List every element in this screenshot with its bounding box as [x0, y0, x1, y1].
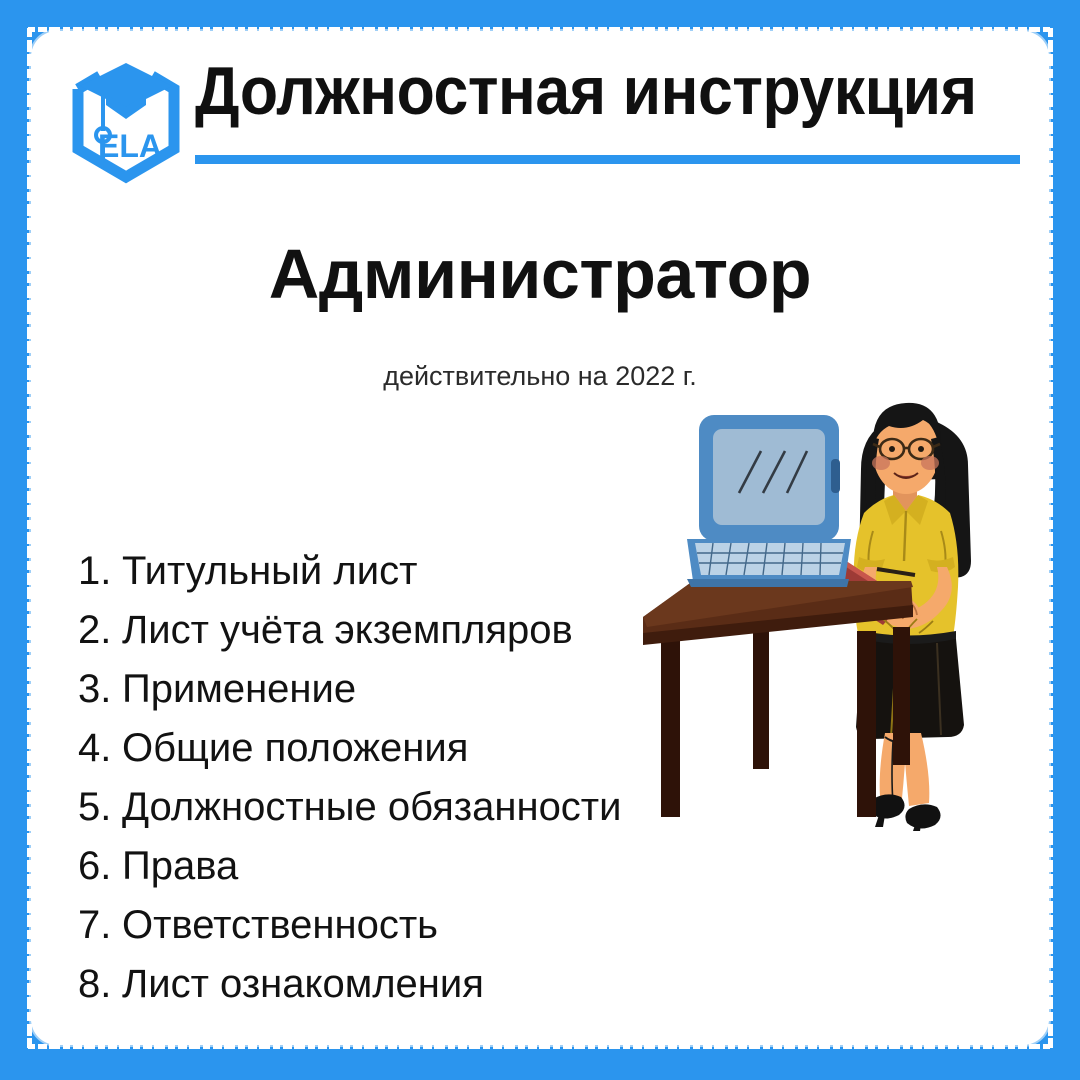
ela-graduation-cap-hexagon-logo: ELA [56, 49, 196, 189]
title-underline-rule [195, 155, 1020, 164]
toc-item-label: Права [122, 846, 718, 886]
keyboard-plate [695, 543, 845, 575]
toc-item: 6. Права [78, 846, 718, 886]
laptop-screen [713, 429, 825, 525]
toc-item-number: 5. [78, 787, 122, 827]
toc-item-number: 3. [78, 669, 122, 709]
desk-leg-back-right [893, 627, 910, 765]
right-shoe [905, 804, 940, 828]
toc-item-label: Лист ознакомления [122, 964, 718, 1004]
document-type-title: Должностная инструкция [195, 57, 964, 125]
toc-item-number: 1. [78, 551, 122, 591]
administrator-at-desk-illustration [621, 381, 1049, 831]
desk-leg-front-right [857, 631, 876, 817]
laptop-front-edge [687, 579, 849, 587]
toc-item-number: 8. [78, 964, 122, 1004]
poster-card: ELA Должностная инструкция Администратор… [31, 31, 1049, 1045]
toc-item-label: Ответственность [122, 905, 718, 945]
logo-wordmark: ELA [98, 128, 162, 164]
toc-item-number: 7. [78, 905, 122, 945]
laptop [687, 415, 851, 587]
desk-leg-front-left [661, 631, 680, 817]
toc-item-number: 2. [78, 610, 122, 650]
poster-frame: ELA Должностная инструкция Администратор… [0, 0, 1080, 1080]
poster-header: ELA Должностная инструкция [31, 31, 1049, 181]
desk-leg-back-left [753, 631, 769, 769]
toc-item-number: 4. [78, 728, 122, 768]
position-name-heading: Администратор [31, 234, 1049, 314]
toc-item-number: 6. [78, 846, 122, 886]
desk [643, 581, 913, 817]
toc-item: 8. Лист ознакомления [78, 964, 718, 1004]
toc-item: 7. Ответственность [78, 905, 718, 945]
